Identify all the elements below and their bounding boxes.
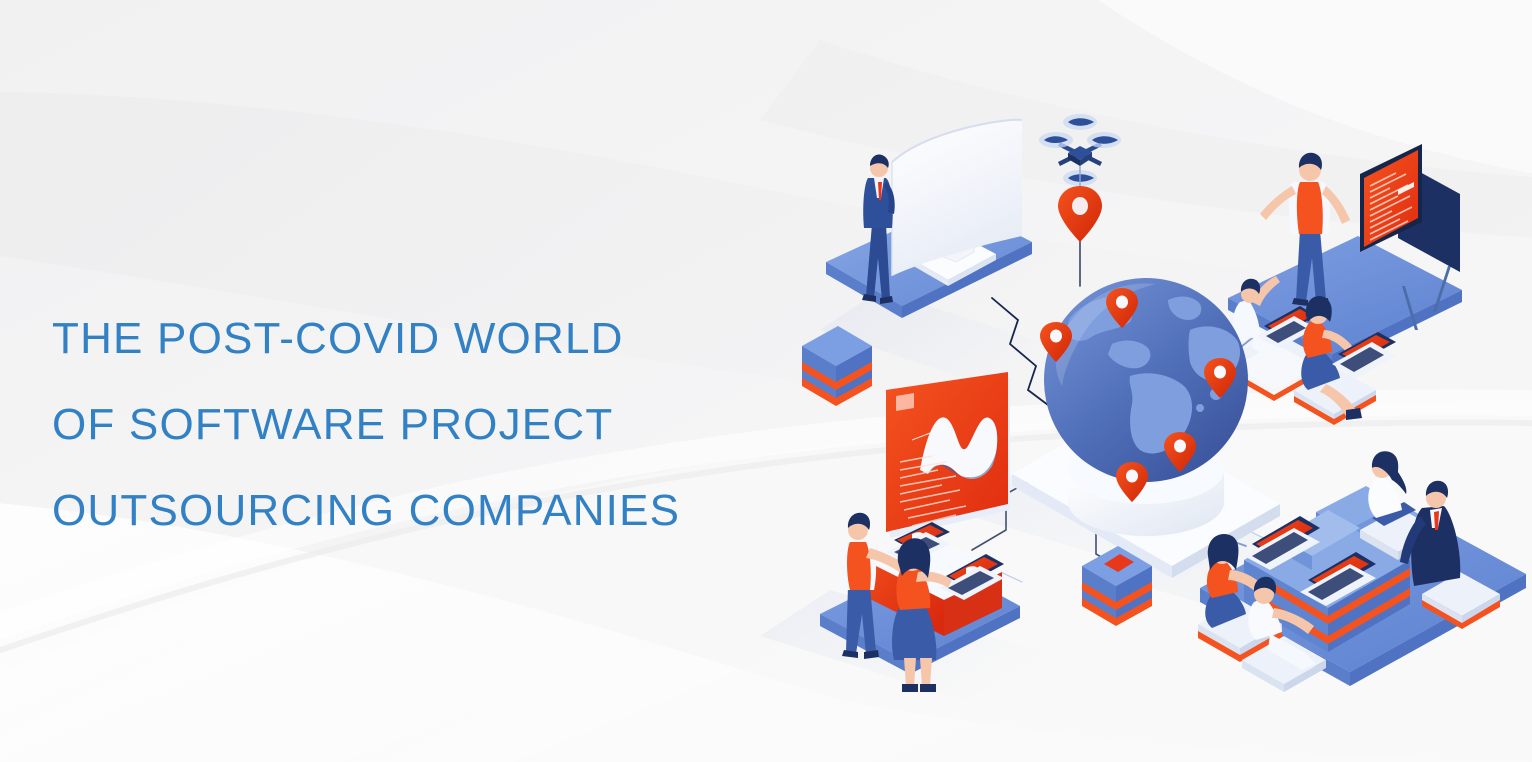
node-monitor-workstation (826, 120, 1032, 318)
banner-root: THE POST-COVID WORLD OF SOFTWARE PROJECT… (0, 0, 1532, 762)
headline-line-2: OF SOFTWARE PROJECT (52, 382, 792, 468)
node-training-presentation (1228, 144, 1462, 425)
drone-payload-map-pin (1058, 186, 1102, 242)
page-title: THE POST-COVID WORLD OF SOFTWARE PROJECT… (52, 296, 792, 554)
presenter-vest (1297, 182, 1323, 234)
analytics-woman-shoe-2 (920, 684, 936, 692)
analytics-woman-legs-2 (920, 658, 932, 686)
node-delivery-drone (1039, 114, 1121, 242)
analytics-screen-badge (896, 393, 914, 411)
seated-right-shoe (1346, 408, 1362, 420)
hero-illustration (760, 90, 1532, 710)
analytics-woman-shoe-1 (902, 684, 918, 692)
analytics-wall-screen (886, 372, 1010, 538)
headline-line-1: THE POST-COVID WORLD (52, 296, 792, 382)
analytics-woman-legs (904, 658, 916, 686)
analytics-man-vest (847, 542, 871, 590)
headline-line-3: OUTSOURCING COMPANIES (52, 468, 792, 554)
